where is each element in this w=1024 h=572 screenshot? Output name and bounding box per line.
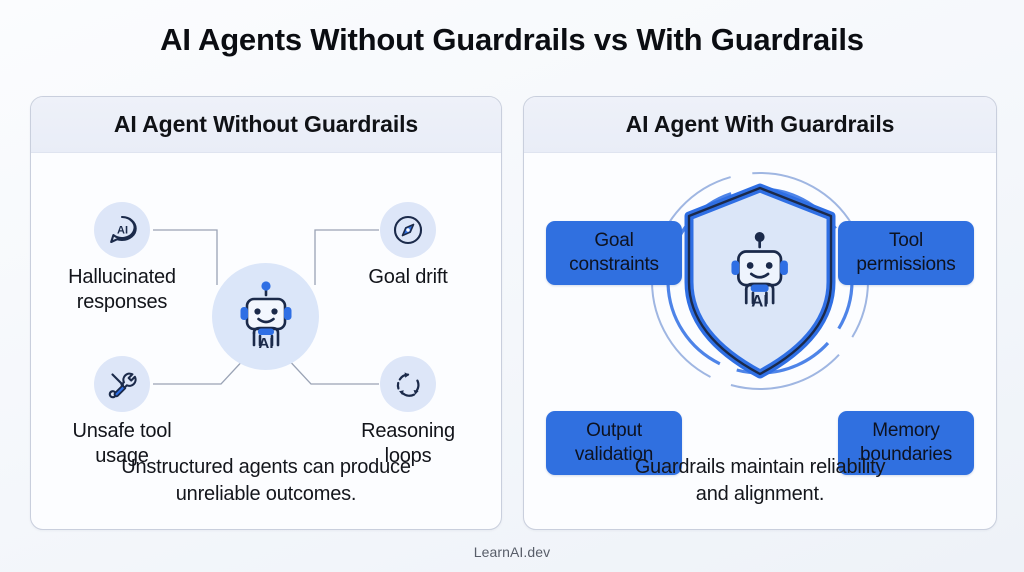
- badge-tool-permissions-text: Tool permissions: [856, 229, 955, 277]
- node-label-line2: responses: [77, 291, 167, 313]
- left-caption-line1: Unstructured agents can produce: [121, 456, 411, 478]
- badge-goal-constraints-text: Goal constraints: [569, 229, 659, 277]
- infographic-root: AI Agents Without Guardrails vs With Gua…: [0, 0, 1024, 572]
- svg-text:AI: AI: [117, 225, 128, 237]
- node-unsafe-tool-usage: Unsafe tool usage: [37, 356, 207, 469]
- panel-header-left-title: AI Agent Without Guardrails: [114, 111, 418, 138]
- compass-icon-circle: [380, 202, 436, 258]
- left-caption-line2: unreliable outcomes.: [176, 483, 357, 505]
- panel-left-body: AI AI Hallucinated responses: [31, 153, 501, 530]
- panel-with-guardrails: AI Agent With Guardrails: [523, 96, 997, 530]
- node-goal-drift-label: Goal drift: [368, 265, 447, 290]
- panel-without-guardrails: AI Agent Without Guardrails: [30, 96, 502, 530]
- loop-arrows-icon: [391, 367, 425, 401]
- badge-goal-constraints[interactable]: Goal constraints: [546, 221, 682, 285]
- node-label-line1: Hallucinated: [68, 266, 176, 288]
- badge-line1: Output: [586, 420, 642, 441]
- shield-robot-label: AI: [751, 291, 768, 310]
- compass-icon: [391, 213, 425, 247]
- page-title: AI Agents Without Guardrails vs With Gua…: [0, 22, 1024, 58]
- node-hallucinated-responses-label: Hallucinated responses: [68, 265, 176, 315]
- loop-arrows-icon-circle: [380, 356, 436, 412]
- footer-brand: LearnAI.dev: [0, 544, 1024, 560]
- panel-right-body: AI Goal constraints Tool permissions: [524, 153, 996, 530]
- node-label-line1: Unsafe tool: [73, 420, 172, 442]
- center-robot-label: AI: [258, 335, 273, 352]
- node-reasoning-loops: Reasoning loops: [323, 356, 493, 469]
- badge-line1: Goal: [594, 230, 633, 251]
- right-caption-line2: and alignment.: [696, 483, 824, 505]
- ai-speech-bubble-icon-circle: AI: [94, 202, 150, 258]
- panel-header-left: AI Agent Without Guardrails: [31, 97, 501, 153]
- center-robot-badge: AI: [212, 263, 319, 370]
- right-panel-caption: Guardrails maintain reliability and alig…: [546, 454, 974, 508]
- badge-line2: constraints: [569, 254, 659, 275]
- node-label-line1: Reasoning: [361, 420, 455, 442]
- badge-tool-permissions[interactable]: Tool permissions: [838, 221, 974, 285]
- badge-line1: Tool: [889, 230, 923, 251]
- ai-speech-bubble-icon: AI: [105, 213, 139, 247]
- tools-icon-circle: [94, 356, 150, 412]
- panel-header-right: AI Agent With Guardrails: [524, 97, 996, 153]
- badge-line1: Memory: [872, 420, 939, 441]
- node-hallucinated-responses: AI Hallucinated responses: [37, 202, 207, 315]
- tools-icon: [105, 367, 139, 401]
- right-caption-line1: Guardrails maintain reliability: [635, 456, 886, 478]
- node-goal-drift: Goal drift: [323, 202, 493, 290]
- panel-header-right-title: AI Agent With Guardrails: [626, 111, 895, 138]
- left-panel-caption: Unstructured agents can produce unreliab…: [53, 454, 479, 508]
- badge-line2: permissions: [856, 254, 955, 275]
- robot-icon: AI: [227, 278, 305, 356]
